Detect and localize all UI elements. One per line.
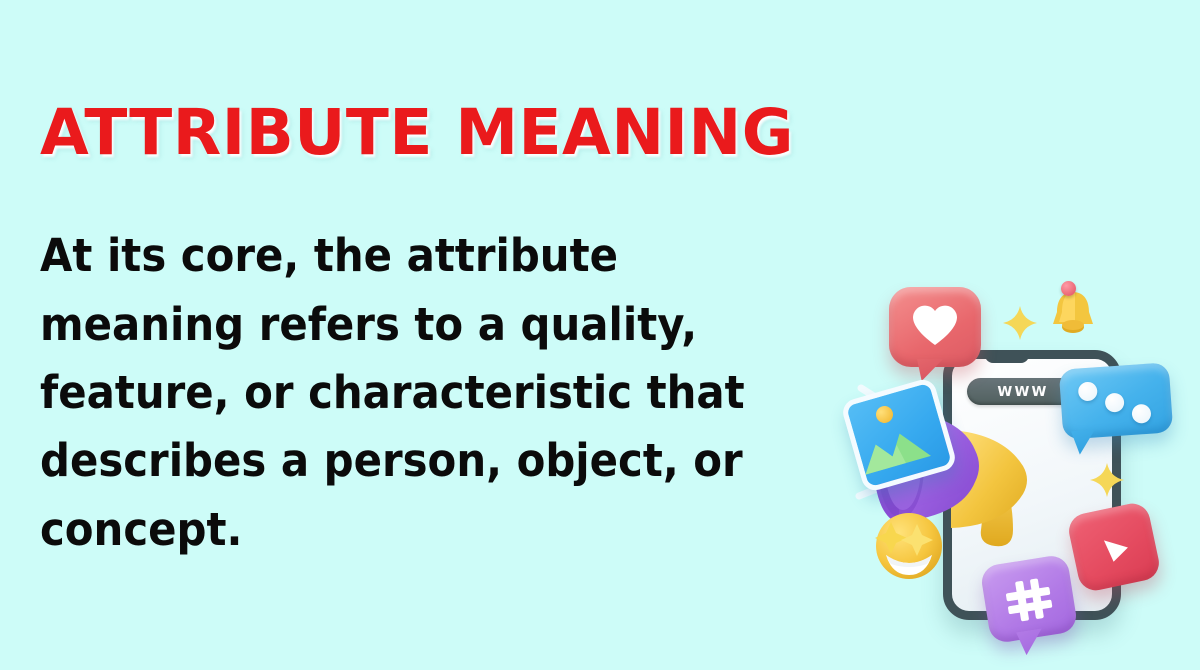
notification-badge: [1061, 281, 1076, 296]
hashtag-icon: [1002, 575, 1056, 626]
social-media-illustration: WWW: [845, 278, 1200, 670]
sparkle-star-icon: [1003, 306, 1037, 340]
infographic-banner: ATTRIBUTE MEANING At its core, the attri…: [0, 0, 1200, 670]
comment-bubble: [1059, 362, 1174, 440]
sparkle-star-icon: [1090, 463, 1124, 497]
body-paragraph: At its core, the attribute meaning refer…: [40, 166, 775, 564]
heart-icon: [911, 303, 959, 347]
text-column: ATTRIBUTE MEANING At its core, the attri…: [40, 100, 840, 564]
play-triangle-icon: [1098, 531, 1134, 567]
comment-dot: [1131, 404, 1151, 424]
comment-dot: [1104, 392, 1124, 412]
comment-dot: [1078, 381, 1098, 401]
page-title: ATTRIBUTE MEANING: [40, 100, 840, 166]
phone-notch: [985, 352, 1029, 363]
star-struck-emoji-icon: [873, 510, 945, 582]
